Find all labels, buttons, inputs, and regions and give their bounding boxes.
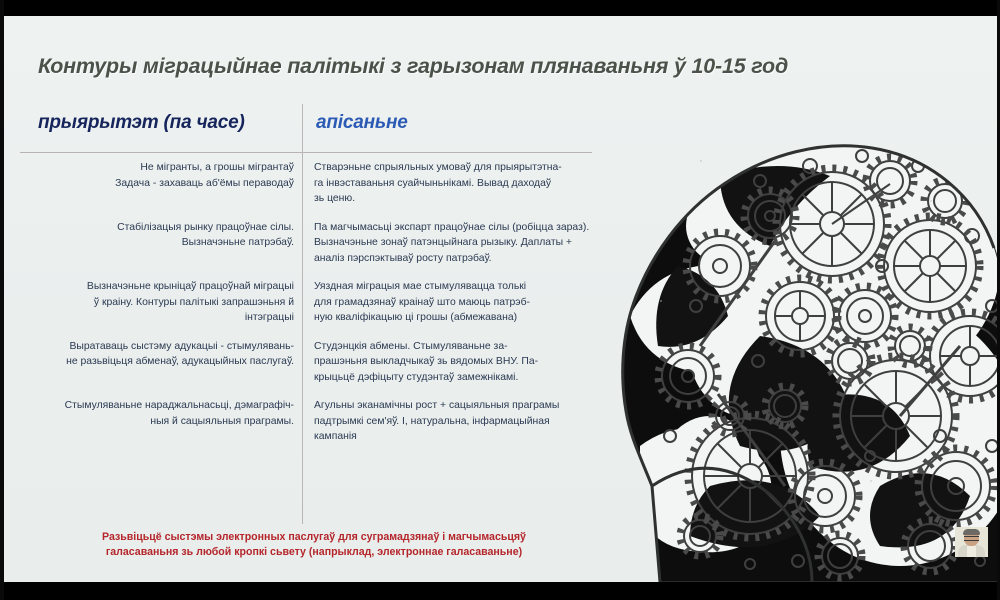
speckle (700, 160, 702, 162)
footer-highlight-note: Разьвіцьцё сыстэмы электронных паслугаў … (22, 530, 606, 560)
presentation-slide: Контуры міграцыйнае палітыкі з гарызонам… (0, 0, 1000, 600)
speckle (870, 480, 872, 482)
cell-priority: Стабілізацыя рынку працоўнае сілы. Вызна… (10, 220, 304, 267)
column-header-priority: прыярытэт (па часе) (38, 112, 245, 134)
header-divider-horizontal (20, 152, 592, 153)
table-row: Стабілізацыя рынку працоўнае сілы. Вызна… (10, 220, 610, 267)
letterbox-top (0, 0, 1000, 16)
cell-priority: Выратаваць сыстэму адукацыі - стымуляван… (10, 339, 304, 386)
table-row: Не мігранты, а грошы мігрантаў Задача - … (10, 160, 610, 207)
speaker-shirt (967, 546, 976, 557)
letterbox-bottom (0, 582, 1000, 600)
cell-description: Па магчымасьці экспарт працоўнае сілы (р… (304, 220, 610, 267)
cell-description: Уяздная міграцыя мае стымулявацца толькі… (304, 279, 610, 326)
speckle (930, 200, 932, 202)
cell-description: Студэнцкія абмены. Стымуляваньне за- пра… (304, 339, 610, 386)
table-row: Вызначэньне крыніцаў працоўнай міграцыі … (10, 279, 610, 326)
column-header-description: апісаньне (316, 112, 408, 134)
cell-description: Агульны эканамічны рост + сацыяльныя пра… (304, 398, 610, 445)
cell-description: Стварэньне спрыяльных умоваў для прыярыт… (304, 160, 610, 207)
cell-priority: Не мігранты, а грошы мігрантаў Задача - … (10, 160, 304, 207)
cell-priority: Стымуляваньне нараджальнасьці, дэмаграфі… (10, 398, 304, 445)
slide-title: Контуры міграцыйнае палітыкі з гарызонам… (38, 54, 898, 79)
table-row: Стымуляваньне нараджальнасьці, дэмаграфі… (10, 398, 610, 445)
speaker-webcam-thumbnail (955, 527, 988, 557)
speaker-hair (963, 529, 980, 535)
letterbox-left (0, 0, 4, 600)
priority-description-table: Не мігранты, а грошы мігрантаў Задача - … (10, 160, 610, 458)
table-row: Выратаваць сыстэму адукацыі - стымуляван… (10, 339, 610, 386)
speckle (660, 300, 662, 302)
glasses-icon (964, 536, 979, 541)
cell-priority: Вызначэньне крыніцаў працоўнай міграцыі … (10, 279, 304, 326)
